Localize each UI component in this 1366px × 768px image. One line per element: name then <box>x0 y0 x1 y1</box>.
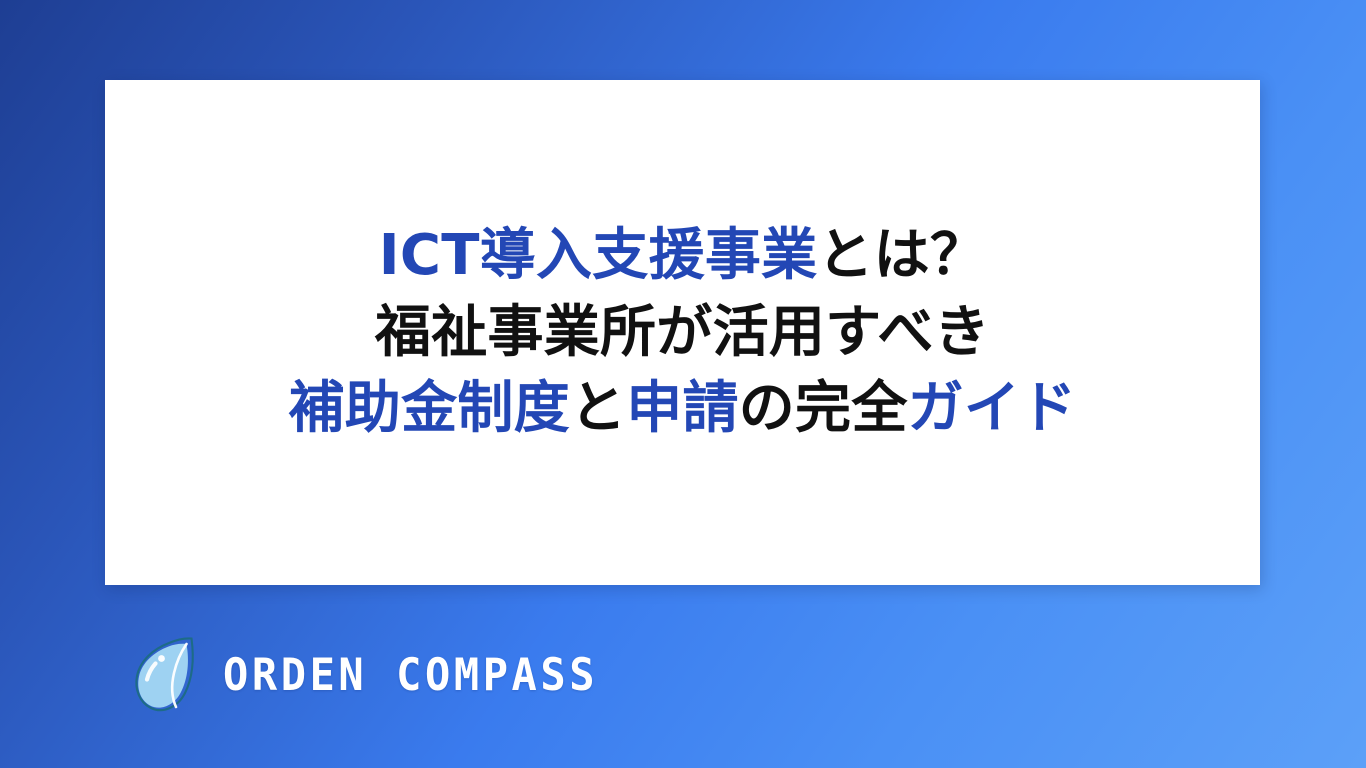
headline-line-2: 福祉事業所が活用すべき <box>375 303 990 362</box>
headline-line-3-black-2: の完全 <box>739 376 908 441</box>
headline-line-3-blue-2: 申請 <box>626 376 739 441</box>
headline-line-3-blue-3: ガイド <box>908 376 1077 441</box>
headline-line-1-blue: ICT導入支援事業 <box>379 223 818 288</box>
headline-card: ICT導入支援事業とは？ 福祉事業所が活用すべき 補助金制度と申請の完全ガイド <box>105 80 1260 585</box>
headline-block: ICT導入支援事業とは？ 福祉事業所が活用すべき 補助金制度と申請の完全ガイド <box>105 80 1260 585</box>
water-drop-leaf-icon <box>131 633 205 717</box>
brand-logo: ORDEN COMPASS <box>131 633 598 717</box>
slide-canvas: ICT導入支援事業とは？ 福祉事業所が活用すべき 補助金制度と申請の完全ガイド … <box>0 0 1366 768</box>
headline-line-2-black: 福祉事業所が活用すべき <box>375 300 990 365</box>
headline-line-3: 補助金制度と申請の完全ガイド <box>289 379 1077 438</box>
headline-line-3-black-1: と <box>570 376 626 441</box>
brand-name-text: ORDEN COMPASS <box>223 653 598 698</box>
headline-line-3-blue-1: 補助金制度 <box>289 376 570 441</box>
headline-line-1: ICT導入支援事業とは？ <box>379 226 987 285</box>
headline-line-1-black: とは？ <box>817 223 986 288</box>
